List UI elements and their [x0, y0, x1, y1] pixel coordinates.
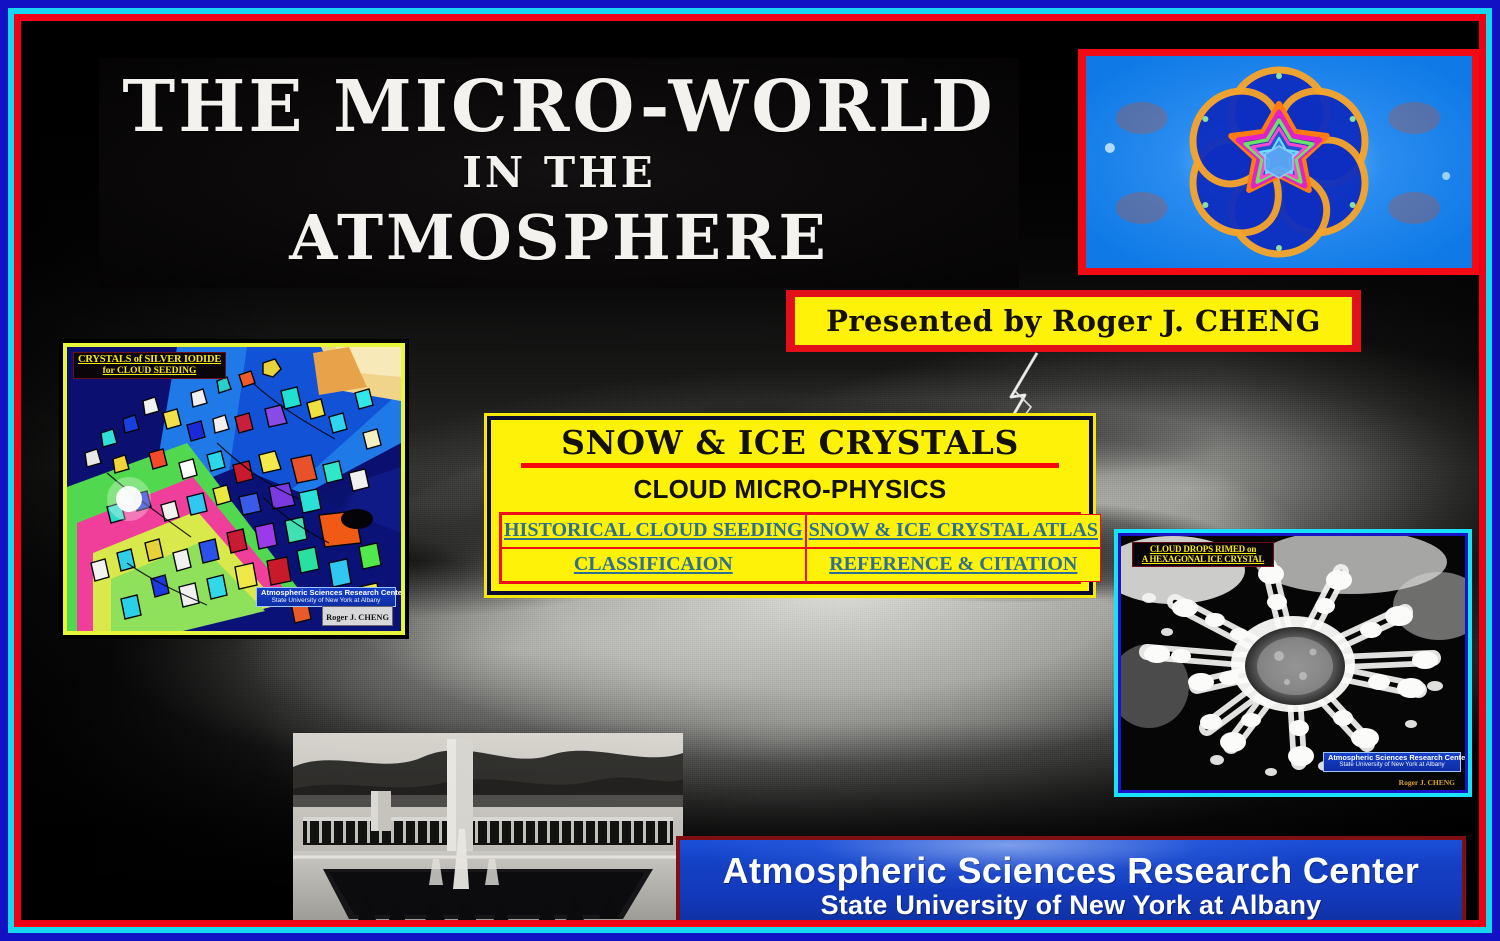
menu-heading-underline	[521, 463, 1059, 468]
poster-page: THE MICRO-WORLD IN THE ATMOSPHERE	[0, 0, 1500, 941]
rimed-crystal-author: Roger J. CHENG	[1399, 778, 1455, 787]
rimed-crystal-caption: CLOUD DROPS RIMED on A HEXAGONAL ICE CRY…	[1132, 542, 1274, 567]
presenter-bar-inner: Presented by Roger J. CHENG	[795, 297, 1352, 345]
page-title-line2: IN THE	[99, 148, 1019, 197]
silver-iodide-image-panel[interactable]: CRYSTALS of SILVER IODIDE for CLOUD SEED…	[59, 339, 409, 639]
border-ring-red: THE MICRO-WORLD IN THE ATMOSPHERE	[14, 14, 1486, 927]
menu-link-grid: HISTORICAL CLOUD SEEDING SNOW & ICE CRYS…	[499, 512, 1081, 584]
main-menu-panel: SNOW & ICE CRYSTALS CLOUD MICRO-PHYSICS …	[484, 413, 1096, 595]
rimed-crystal-image-panel[interactable]: CLOUD DROPS RIMED on A HEXAGONAL ICE CRY…	[1114, 529, 1472, 797]
menu-subheading: CLOUD MICRO-PHYSICS	[499, 474, 1081, 505]
asrc-banner-inner: Atmospheric Sciences Research Center Sta…	[680, 840, 1462, 920]
border-ring-cyan: THE MICRO-WORLD IN THE ATMOSPHERE	[8, 8, 1492, 933]
campus-photograph	[293, 733, 683, 920]
menu-item-label[interactable]: SNOW & ICE CRYSTAL ATLAS	[809, 519, 1098, 541]
presenter-bar: Presented by Roger J. CHENG	[786, 290, 1361, 352]
page-title-line1: THE MICRO-WORLD	[99, 70, 1019, 142]
rimed-crystal-credit: Atmospheric Sciences Research Center Sta…	[1323, 752, 1461, 772]
rimed-crystal-photo: CLOUD DROPS RIMED on A HEXAGONAL ICE CRY…	[1121, 536, 1465, 790]
menu-item-label[interactable]: CLASSIFICAION	[574, 553, 733, 575]
page-title-line3: ATMOSPHERE	[99, 201, 1019, 274]
silver-iodide-yellow-frame: CRYSTALS of SILVER IODIDE for CLOUD SEED…	[63, 343, 405, 635]
presenter-label: Presented by Roger J. CHENG	[826, 304, 1321, 338]
menu-body: SNOW & ICE CRYSTALS CLOUD MICRO-PHYSICS …	[491, 420, 1089, 591]
rimed-crystal-blue-frame: CLOUD DROPS RIMED on A HEXAGONAL ICE CRY…	[1118, 533, 1468, 793]
hexagonal-snowflake-icon	[1086, 56, 1472, 268]
menu-outer-edge: SNOW & ICE CRYSTALS CLOUD MICRO-PHYSICS …	[484, 413, 1096, 598]
menu-item-reference-citation[interactable]: REFERENCE & CITATION	[806, 548, 1101, 582]
menu-item-snow-ice-crystal-atlas[interactable]: SNOW & ICE CRYSTAL ATLAS	[806, 514, 1101, 548]
snowflake-photo	[1086, 56, 1472, 268]
menu-item-label[interactable]: HISTORICAL CLOUD SEEDING	[504, 519, 803, 541]
asrc-banner-line2: State University of New York at Albany	[821, 890, 1322, 921]
poster-title-block: THE MICRO-WORLD IN THE ATMOSPHERE	[99, 58, 1019, 288]
menu-item-label[interactable]: REFERENCE & CITATION	[829, 553, 1077, 575]
silver-iodide-credit: Atmospheric Sciences Research Center Sta…	[256, 587, 396, 607]
silver-iodide-author: Roger J. CHENG	[322, 606, 393, 626]
snowflake-image-panel[interactable]	[1078, 49, 1479, 275]
menu-item-classification[interactable]: CLASSIFICAION	[501, 548, 806, 582]
menu-item-historical-cloud-seeding[interactable]: HISTORICAL CLOUD SEEDING	[501, 514, 806, 548]
silver-iodide-caption: CRYSTALS of SILVER IODIDE for CLOUD SEED…	[73, 352, 226, 379]
menu-heading: SNOW & ICE CRYSTALS	[499, 426, 1081, 461]
poster-stage: THE MICRO-WORLD IN THE ATMOSPHERE	[21, 21, 1479, 920]
asrc-banner-line1: Atmospheric Sciences Research Center	[723, 850, 1420, 892]
campus-illustration	[293, 733, 683, 920]
menu-dark-frame: SNOW & ICE CRYSTALS CLOUD MICRO-PHYSICS …	[487, 416, 1093, 595]
silver-iodide-photo: CRYSTALS of SILVER IODIDE for CLOUD SEED…	[67, 347, 401, 631]
asrc-banner: Atmospheric Sciences Research Center Sta…	[676, 836, 1466, 920]
